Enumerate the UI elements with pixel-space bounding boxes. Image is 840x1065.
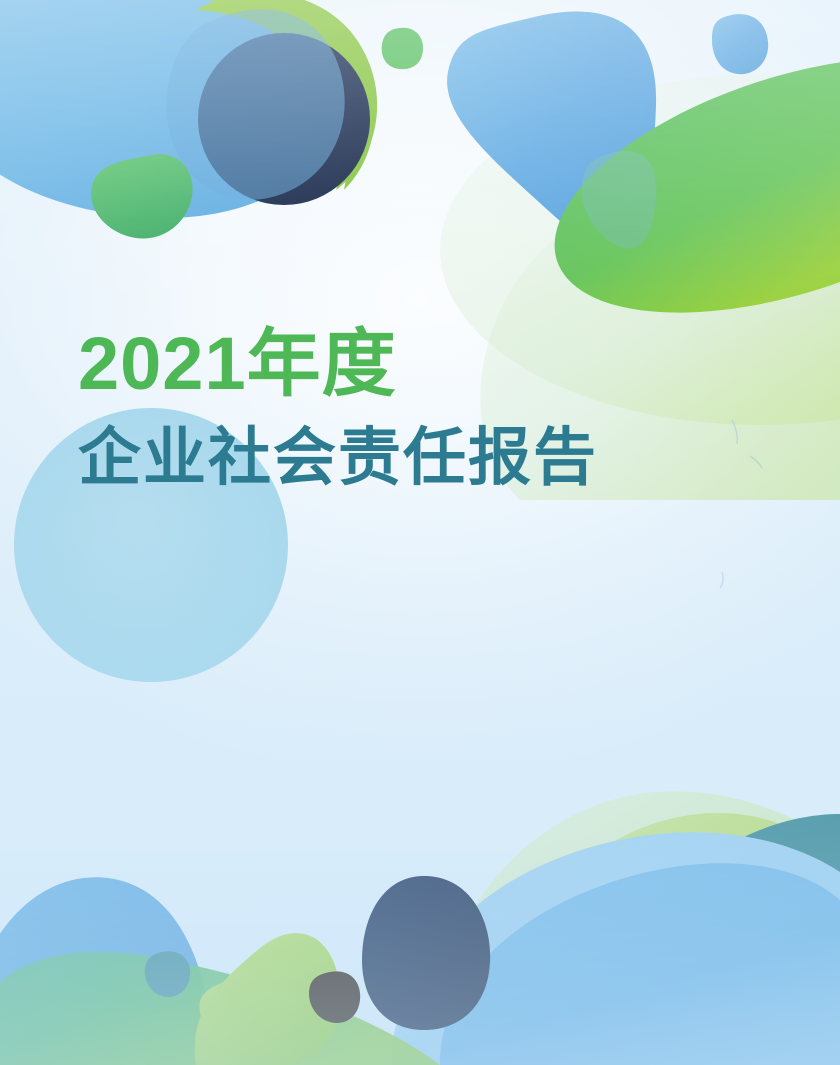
page-title-subject: 企业社会责任报告 — [78, 425, 698, 491]
background-overlay — [0, 0, 840, 1065]
page-title-year: 2021年度 — [78, 326, 698, 401]
cover-title-block: 2021年度 企业社会责任报告 — [78, 326, 698, 492]
report-cover-page: 2021年度 企业社会责任报告 — [0, 0, 840, 1065]
